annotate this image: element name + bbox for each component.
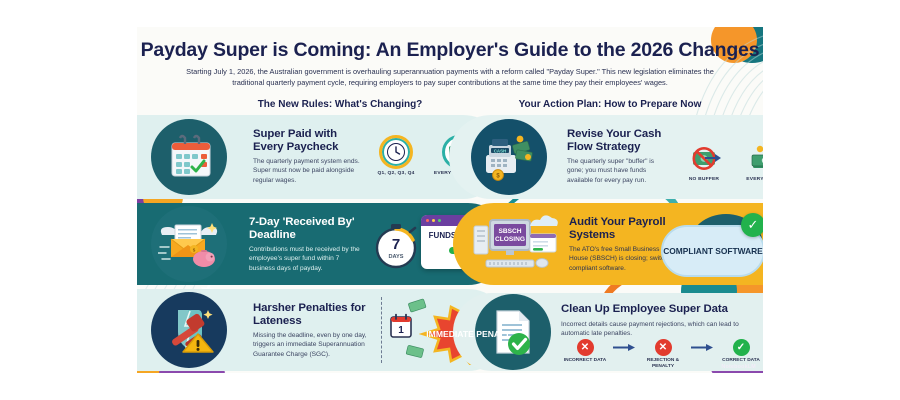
card-art-cash-flow: CASH $ [457, 115, 561, 199]
divider [381, 297, 382, 363]
calendar-icon [151, 119, 227, 195]
card-body: The quarterly payment system ends. Super… [253, 157, 361, 185]
calendar-day-number: 1 [398, 325, 404, 336]
cross-icon: ✕ [655, 339, 672, 356]
stopwatch-icon: 7 DAYS [371, 221, 421, 271]
chip-every-pay-run: $ EVERY PAY RUN [740, 141, 763, 182]
card-body: Missing the deadline, even by one day, t… [253, 331, 373, 359]
cash-register-icon: CASH $ [471, 119, 547, 195]
page-subtitle: Starting July 1, 2026, the Australian go… [183, 66, 717, 88]
flow-step-correct-data: ✓ CORRECT DATA [715, 339, 763, 364]
card-text-cash-flow: Revise Your Cash Flow Strategy The quart… [567, 128, 671, 185]
card-art-penalties [137, 289, 241, 371]
flow-step-label: INCORRECT DATA [559, 358, 611, 364]
chip-quarters: Q1, Q2, Q3, Q4 [369, 135, 423, 176]
svg-text:$: $ [193, 247, 196, 252]
clock-icon [379, 135, 413, 169]
svg-text:SBSCH: SBSCH [498, 228, 521, 235]
card-art-super-paid [137, 115, 241, 199]
svg-text:CLOSING: CLOSING [495, 236, 525, 243]
flow-step-rejection-penalty: ✕ REJECTION & PENALTY [637, 339, 689, 370]
card-heading: Clean Up Employee Super Data [561, 303, 757, 316]
card-heading: Super Paid with Every Paycheck [253, 128, 361, 153]
stopwatch-unit: DAYS [388, 254, 403, 260]
flow-step-incorrect-data: ✕ INCORRECT DATA [559, 339, 611, 364]
flow-step-label: REJECTION & PENALTY [637, 358, 689, 370]
card-body: Contributions must be received by the em… [249, 245, 367, 273]
card-body: Incorrect details cause payment rejectio… [561, 320, 757, 338]
chip-arrow-icon [705, 153, 721, 163]
gavel-shield-warning-icon [151, 292, 227, 368]
minimize-icon[interactable] [432, 219, 435, 222]
flow-arrow-icon [613, 339, 635, 356]
card-harsher-penalties[interactable]: Harsher Penalties for Lateness Missing t… [137, 289, 509, 371]
page-title: Payday Super is Coming: An Employer's Gu… [137, 39, 763, 62]
card-text-deadline: 7-Day 'Received By' Deadline Contributio… [249, 216, 367, 273]
watermark: NotebookLM [721, 364, 756, 370]
card-revise-cash-flow[interactable]: CASH $ Revise Your Cash Flow Strategy [449, 115, 763, 199]
card-art-deadline: $ [137, 203, 241, 285]
check-icon: ✓ [741, 213, 763, 237]
svg-text:CASH: CASH [494, 148, 506, 153]
cross-icon: ✕ [577, 339, 594, 356]
flow-arrow-icon [691, 339, 713, 356]
card-heading: Revise Your Cash Flow Strategy [567, 128, 671, 153]
card-audit-payroll-systems[interactable]: SBSCH CLOSING Audit Your Payr [453, 203, 763, 285]
card-text-super-paid: Super Paid with Every Paycheck The quart… [253, 128, 361, 185]
cash-stack-icon: $ [750, 141, 763, 175]
card-art-audit-payroll: SBSCH CLOSING [463, 203, 567, 285]
close-icon[interactable] [426, 219, 429, 222]
card-text-clean-data: Clean Up Employee Super Data Incorrect d… [561, 303, 757, 338]
column-header-new-rules: The New Rules: What's Changing? [197, 99, 483, 110]
burst-label: IMMEDIATE PENALTY [426, 329, 509, 339]
card-heading: 7-Day 'Received By' Deadline [249, 216, 367, 241]
card-body: The quarterly super "buffer" is gone; yo… [567, 157, 671, 185]
column-header-action-plan: Your Action Plan: How to Prepare Now [467, 99, 753, 110]
card-heading: Harsher Penalties for Lateness [253, 302, 373, 327]
stopwatch-number: 7 [392, 236, 400, 253]
calendar-day-icon: 1 [389, 313, 413, 339]
infographic-poster: Payday Super is Coming: An Employer's Gu… [137, 27, 763, 373]
screenshot-canvas: Payday Super is Coming: An Employer's Gu… [0, 0, 900, 400]
chip-caption: EVERY PAY RUN [740, 177, 763, 182]
card-text-penalties: Harsher Penalties for Lateness Missing t… [253, 302, 373, 359]
winged-envelope-piggybank-icon: $ [151, 206, 227, 282]
desktop-monitor-icon: SBSCH CLOSING [472, 212, 558, 276]
chip-caption: Q1, Q2, Q3, Q4 [369, 171, 423, 176]
chip-caption: NO BUFFER [677, 177, 731, 182]
chip-no-buffer: NO BUFFER [677, 141, 731, 182]
maximize-icon[interactable] [438, 219, 441, 222]
check-icon: ✓ [733, 339, 750, 356]
